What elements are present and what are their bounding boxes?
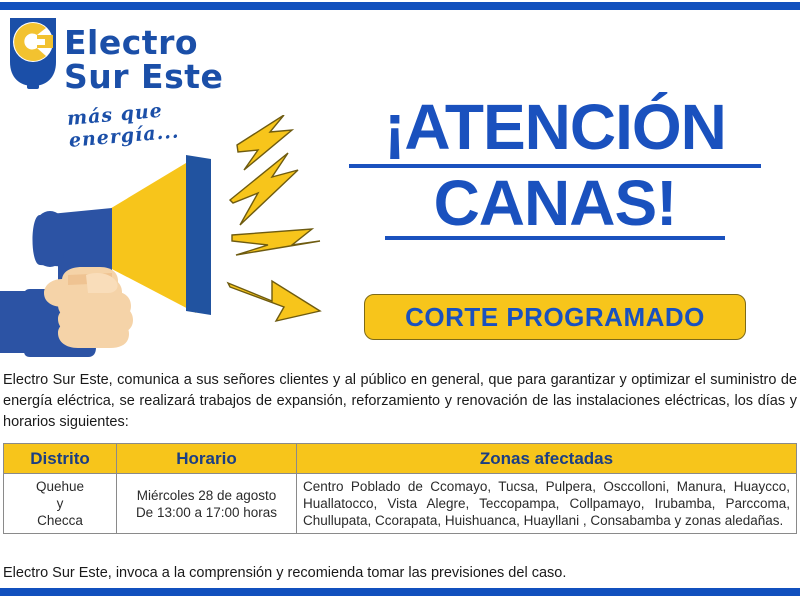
- headline: ¡ATENCIÓN CANAS!: [320, 92, 790, 240]
- brand-wordmark: Electro Sur Este: [64, 26, 223, 94]
- notice-poster: Electro Sur Este más que energía...: [0, 0, 800, 600]
- corte-programado-badge: CORTE PROGRAMADO: [364, 294, 746, 340]
- column-header-horario: Horario: [117, 444, 297, 474]
- outage-schedule-table: Distrito Horario Zonas afectadas Quehue …: [3, 443, 797, 534]
- cell-distrito: Quehue y Checca: [4, 474, 117, 534]
- headline-line-2: CANAS!: [320, 168, 790, 238]
- cell-horario: Miércoles 28 de agosto De 13:00 a 17:00 …: [117, 474, 297, 534]
- table-row: Quehue y Checca Miércoles 28 de agosto D…: [4, 474, 797, 534]
- brand-wordmark-line2: Sur Este: [64, 60, 223, 94]
- intro-paragraph: Electro Sur Este, comunica a sus señores…: [3, 370, 797, 433]
- column-header-zonas: Zonas afectadas: [297, 444, 797, 474]
- brand-wordmark-line1: Electro: [64, 26, 223, 60]
- bottom-divider-rule: [0, 588, 800, 596]
- corte-programado-label: CORTE PROGRAMADO: [405, 302, 705, 333]
- cell-zonas: Centro Poblado de Ccomayo, Tucsa, Pulper…: [297, 474, 797, 534]
- footer-note: Electro Sur Este, invoca a la comprensió…: [3, 565, 797, 581]
- megaphone-with-hand-icon: [0, 115, 330, 360]
- headline-line-1: ¡ATENCIÓN: [320, 92, 790, 162]
- top-divider-rule: [0, 2, 800, 10]
- table-header-row: Distrito Horario Zonas afectadas: [4, 444, 797, 474]
- column-header-distrito: Distrito: [4, 444, 117, 474]
- electro-sur-este-bulb-e-logo-icon: [6, 16, 64, 94]
